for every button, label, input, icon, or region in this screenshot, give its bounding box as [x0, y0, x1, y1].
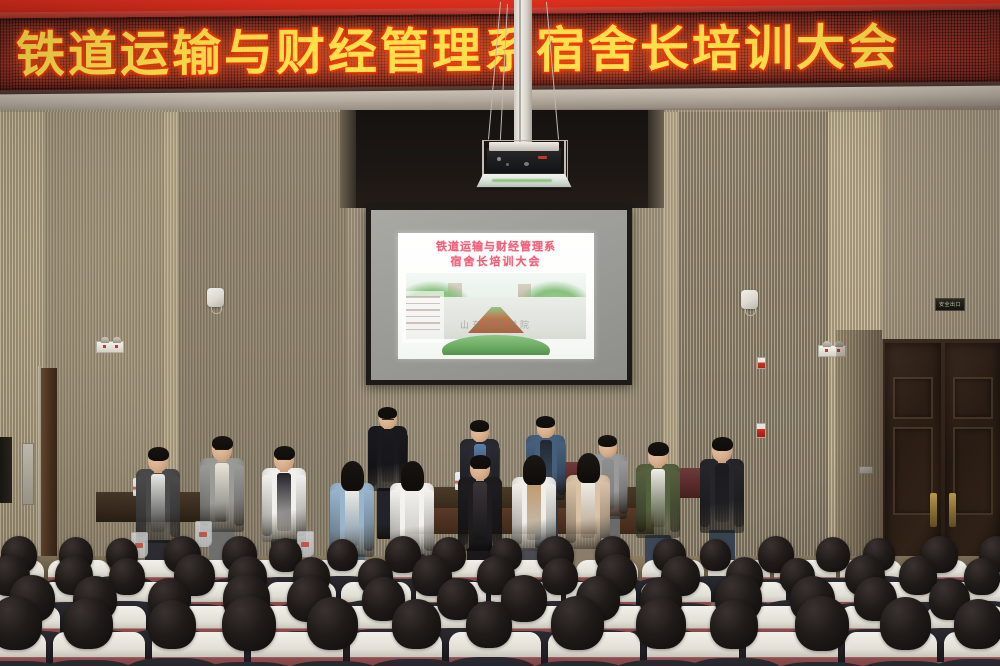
person-arm-right [670, 471, 680, 532]
slide-side-panel [402, 291, 444, 343]
person-arm-right [600, 482, 610, 543]
person-arm-left [458, 484, 468, 545]
door-panel-upper-right [953, 377, 993, 419]
person-hair [212, 436, 233, 450]
audience-head [307, 597, 358, 650]
slide-title: 铁道运输与财经管理系 宿舍长培训大会 [398, 239, 594, 269]
exit-sign-icon: 安全出口 [935, 298, 965, 311]
person-arm-left [200, 465, 210, 526]
person-inner-shirt [715, 464, 729, 522]
door-panel-lower-right [953, 427, 993, 515]
person-inner-shirt [581, 480, 595, 538]
audience-head [964, 558, 1000, 595]
person-arm-right [364, 490, 374, 551]
door-handle-right[interactable] [949, 493, 956, 527]
door-panel-lower-left [893, 427, 933, 515]
person-glasses [215, 449, 229, 453]
alarm-pull-station-icon[interactable] [756, 423, 766, 438]
person-hair [523, 455, 546, 485]
person-hair [470, 420, 489, 432]
audience-head [466, 601, 512, 648]
fire-alarm-icon [757, 357, 766, 369]
audience-head [392, 599, 441, 649]
door-handle-left[interactable] [930, 493, 937, 527]
person-arm-left [136, 476, 146, 537]
person-hair [536, 416, 555, 428]
person-hair [648, 442, 669, 456]
person-arm-left [262, 475, 272, 536]
wall-speaker-left-icon [207, 288, 224, 307]
person-inner-shirt [473, 482, 487, 540]
person-arm-right [557, 442, 566, 495]
audience-head [542, 558, 578, 595]
person-inner-shirt [527, 482, 541, 540]
slide-title-line-1: 铁道运输与财经管理系 [398, 239, 594, 254]
person-hair [470, 455, 491, 469]
person-inner-shirt [277, 473, 291, 531]
person-inner-shirt [345, 488, 359, 546]
person-inner-shirt [651, 469, 665, 527]
projector-beam-tint [492, 179, 552, 182]
person-hair [274, 446, 295, 460]
emergency-light-left-icon [96, 341, 124, 353]
person-hair [378, 407, 397, 419]
audience-head [700, 539, 731, 571]
left-wall-opening [0, 437, 12, 503]
person-hair [577, 453, 600, 483]
person-inner-shirt [151, 474, 165, 532]
audience-head [551, 596, 604, 650]
left-door-jamb[interactable] [41, 368, 57, 578]
person-arm-left [566, 482, 576, 543]
projector-port-2 [506, 163, 509, 166]
person-hair [598, 435, 617, 447]
projector-bracket [489, 142, 559, 151]
person-glasses [473, 468, 487, 472]
projector-port-1 [497, 157, 501, 161]
person-arm-right [492, 484, 502, 545]
audience-head [880, 597, 931, 650]
person-inner-shirt [215, 463, 229, 521]
audience-head [148, 600, 196, 649]
screen-surface: 铁道运输与财经管理系 宿舍长培训大会 山东城市学院 [371, 210, 627, 380]
person-hair [401, 461, 424, 491]
person-arm-left [700, 466, 710, 527]
audience-head [327, 539, 358, 571]
person-arm-right [424, 490, 434, 551]
person-arm-left [512, 484, 522, 545]
audience-head [63, 598, 113, 649]
projector-cable-red [538, 156, 547, 159]
screen-recess-right [646, 110, 664, 208]
gift-bag-label [301, 542, 309, 547]
photo-watermark: 山东城市学院 [460, 318, 532, 331]
gift-bag-label [199, 532, 207, 537]
led-banner: 铁道运输与财经管理系宿舍长培训大会 [0, 10, 1000, 93]
person-arm-right [734, 466, 744, 527]
projector-port-3 [524, 162, 529, 166]
audience-head [710, 600, 758, 649]
auditorium-photo: 铁道运输与财经管理系宿舍长培训大会 铁道运输与财经管理系 宿舍长培训大会 [0, 0, 1000, 666]
left-wall-window [22, 443, 34, 505]
person-hair [341, 461, 364, 491]
wall-speaker-right-icon [741, 290, 758, 309]
slide-title-line-2: 宿舍长培训大会 [398, 254, 594, 269]
led-banner-text: 铁道运输与财经管理系宿舍长培训大会 [16, 22, 1000, 80]
audience-head [816, 537, 850, 572]
projection-screen: 铁道运输与财经管理系 宿舍长培训大会 山东城市学院 [366, 205, 632, 385]
door-panel-upper-left [893, 377, 933, 419]
person-arm-right [234, 465, 244, 526]
audience-head [954, 599, 1000, 649]
person-hair [148, 447, 169, 461]
person-arm-right [170, 476, 180, 537]
projector-pole-seam [519, 0, 521, 150]
person-arm-right [296, 475, 306, 536]
audience-head [636, 598, 686, 649]
person-arm-right [619, 461, 628, 514]
person-glasses [277, 459, 291, 463]
presentation-slide: 铁道运输与财经管理系 宿舍长培训大会 山东城市学院 [398, 233, 594, 359]
person-hair [712, 437, 733, 451]
audience-head [795, 596, 849, 651]
audience-head [222, 596, 276, 651]
projector-mount-pole [514, 0, 532, 150]
person-arm-left [636, 471, 646, 532]
person-glasses [382, 419, 394, 423]
